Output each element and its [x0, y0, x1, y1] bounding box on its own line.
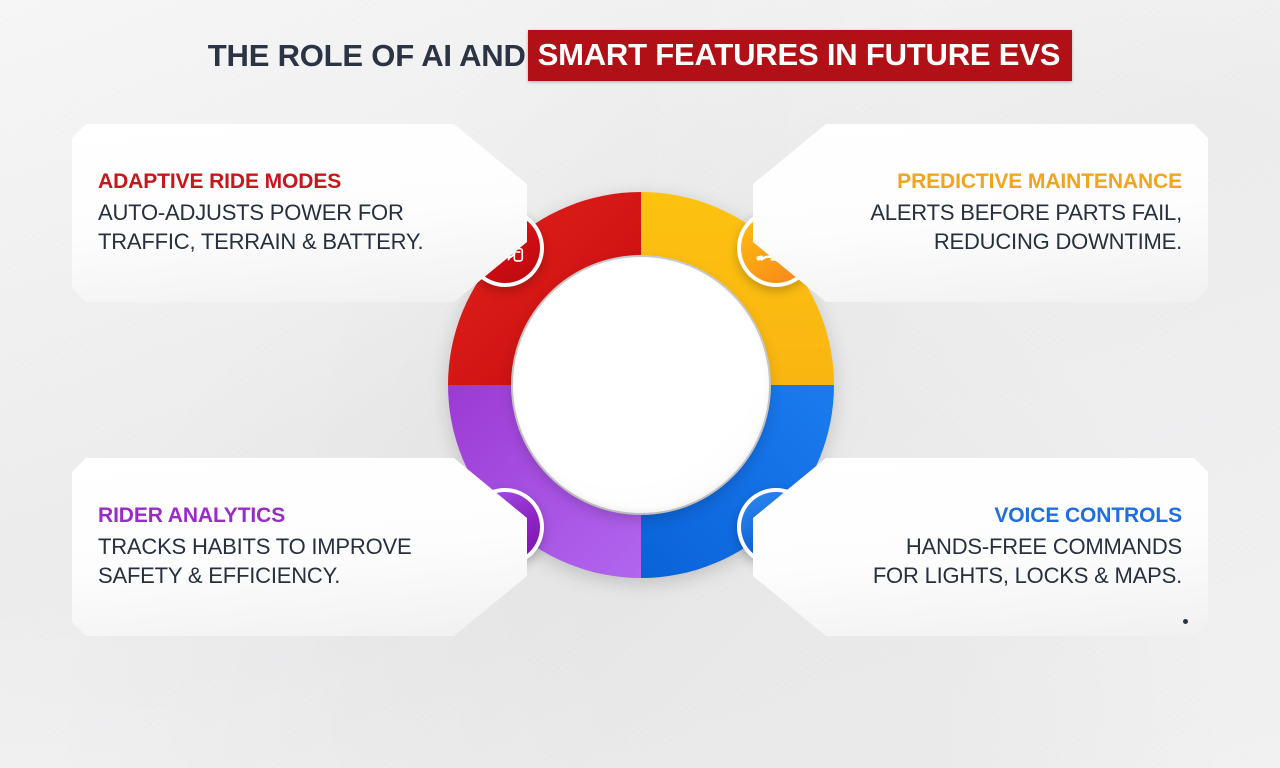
stray-dot [1183, 619, 1188, 624]
donut-center [513, 257, 769, 513]
card-body-line-1: AUTO-ADJUSTS POWER FOR [98, 198, 527, 227]
card-body-line-2: FOR LIGHTS, LOCKS & MAPS. [873, 561, 1182, 590]
card-body-line-1: HANDS-FREE COMMANDS [906, 532, 1182, 561]
page-title-highlight: SMART FEATURES IN FUTURE EVS [528, 30, 1073, 81]
card-predictive-maintenance[interactable]: PREDICTIVE MAINTENANCE ALERTS BEFORE PAR… [753, 124, 1208, 324]
card-heading: PREDICTIVE MAINTENANCE [897, 170, 1182, 194]
card-heading: ADAPTIVE RIDE MODES [98, 170, 527, 194]
card-rider-analytics[interactable]: RIDER ANALYTICS TRACKS HABITS TO IMPROVE… [72, 458, 527, 658]
card-body-line-1: TRACKS HABITS TO IMPROVE [98, 532, 527, 561]
page-title: THE ROLE OF AI AND SMART FEATURES IN FUT… [0, 30, 1280, 81]
card-body-line-2: TRAFFIC, TERRAIN & BATTERY. [98, 227, 527, 256]
card-body-line-1: ALERTS BEFORE PARTS FAIL, [870, 198, 1182, 227]
card-heading: RIDER ANALYTICS [98, 504, 527, 528]
page-title-plain: THE ROLE OF AI AND [208, 40, 528, 71]
card-body-line-2: REDUCING DOWNTIME. [934, 227, 1182, 256]
card-adaptive-ride-modes[interactable]: ADAPTIVE RIDE MODES AUTO-ADJUSTS POWER F… [72, 124, 527, 324]
card-voice-controls[interactable]: VOICE CONTROLS HANDS-FREE COMMANDS FOR L… [753, 458, 1208, 658]
card-body-line-2: SAFETY & EFFICIENCY. [98, 561, 527, 590]
card-heading: VOICE CONTROLS [994, 504, 1182, 528]
